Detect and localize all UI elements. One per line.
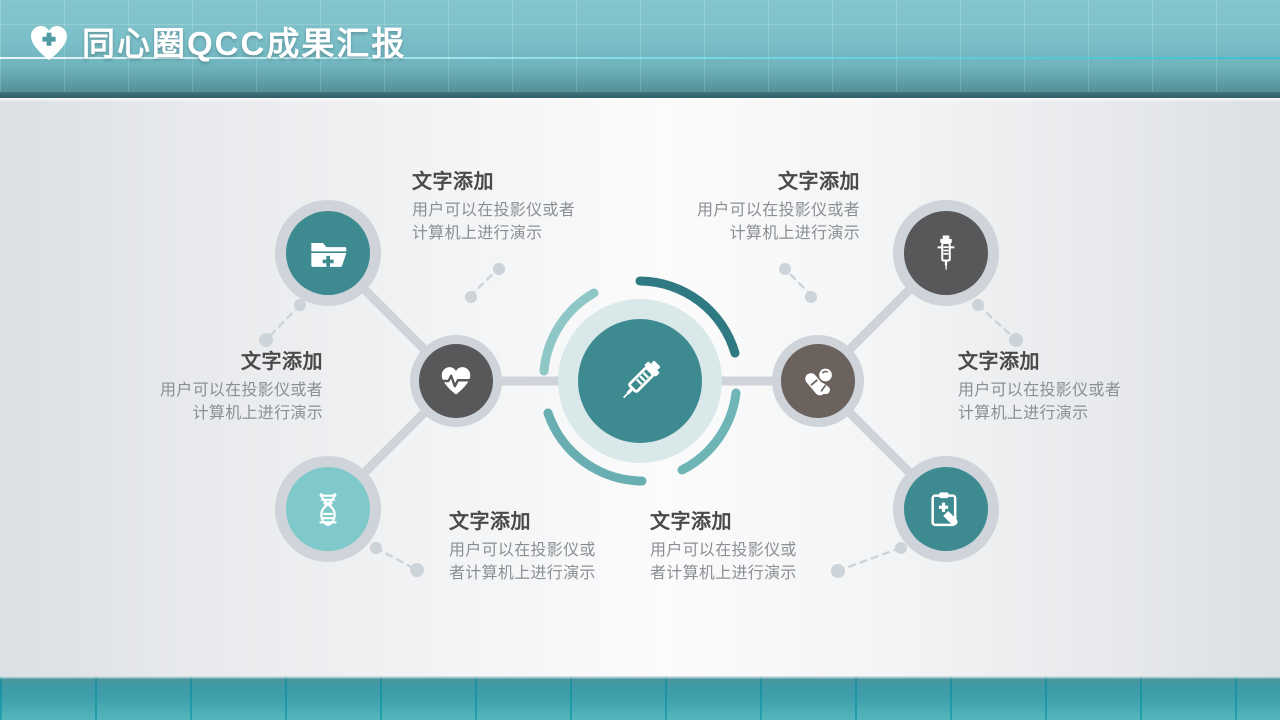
dna-icon [308,489,348,529]
text-block-line1: 用户可以在投影仪或者 [645,199,860,222]
node-disc [419,344,493,418]
text-block-top-left: 文字添加 用户可以在投影仪或者 计算机上进行演示 [412,170,627,245]
syringe-icon [532,273,748,489]
text-block-mid-left: 文字添加 用户可以在投影仪或者 计算机上进行演示 [108,350,323,425]
text-block-bottom-left: 文字添加 用户可以在投影仪或 者计算机上进行演示 [449,510,649,585]
text-block-mid-right: 文字添加 用户可以在投影仪或者 计算机上进行演示 [958,350,1173,425]
text-block-title: 文字添加 [650,510,850,535]
text-block-bottom-right: 文字添加 用户可以在投影仪或 者计算机上进行演示 [650,510,850,585]
node-disc [904,211,988,295]
node-disc [286,211,370,295]
node-disc [286,467,370,551]
leader-topright [978,305,1014,338]
text-block-line2: 者计算机上进行演示 [650,562,850,585]
text-block-line1: 用户可以在投影仪或者 [108,379,323,402]
folder-plus-icon [308,233,348,273]
node-mid-left[interactable] [410,335,502,427]
node-bottom-left[interactable] [275,456,381,562]
heartbeat-icon [438,363,474,399]
node-top-right[interactable] [893,200,999,306]
slide-header: 同心圈QCC成果汇报 [0,0,1280,98]
node-disc [904,467,988,551]
text-block-title: 文字添加 [449,510,649,535]
text-block-line2: 计算机上进行演示 [645,222,860,245]
text-block-title: 文字添加 [645,170,860,195]
node-bottom-right[interactable] [893,456,999,562]
node-top-left[interactable] [275,200,381,306]
text-block-line2: 计算机上进行演示 [412,222,627,245]
syringe-icon [926,233,966,273]
text-block-line2: 者计算机上进行演示 [449,562,649,585]
text-block-line2: 计算机上进行演示 [108,402,323,425]
footer-top-edge [0,676,1280,679]
text-block-line1: 用户可以在投影仪或者 [412,199,627,222]
clipboard-medical-icon [926,489,966,529]
text-block-line1: 用户可以在投影仪或 [650,539,850,562]
leader-topleft [268,305,300,338]
text-block-title: 文字添加 [108,350,323,375]
footer-grid-pattern [0,676,1280,720]
slide-footer [0,676,1280,720]
text-block-line2: 计算机上进行演示 [958,402,1173,425]
node-disc [781,344,855,418]
page-title: 同心圈QCC成果汇报 [82,27,406,60]
text-block-top-right: 文字添加 用户可以在投影仪或者 计算机上进行演示 [645,170,860,245]
leader-bottomleft [376,548,415,569]
node-mid-right[interactable] [772,335,864,427]
header-title-group: 同心圈QCC成果汇报 [30,25,406,61]
heart-cross-icon [30,25,68,61]
text-block-title: 文字添加 [958,350,1173,375]
text-block-line1: 用户可以在投影仪或 [449,539,649,562]
text-block-line1: 用户可以在投影仪或者 [958,379,1173,402]
center-hub[interactable] [532,273,748,489]
infographic-diagram: 文字添加 用户可以在投影仪或者 计算机上进行演示 文字添加 用户可以在投影仪或者… [0,98,1280,676]
text-block-title: 文字添加 [412,170,627,195]
pills-icon [800,363,836,399]
slide: 同心圈QCC成果汇报 [0,0,1280,720]
